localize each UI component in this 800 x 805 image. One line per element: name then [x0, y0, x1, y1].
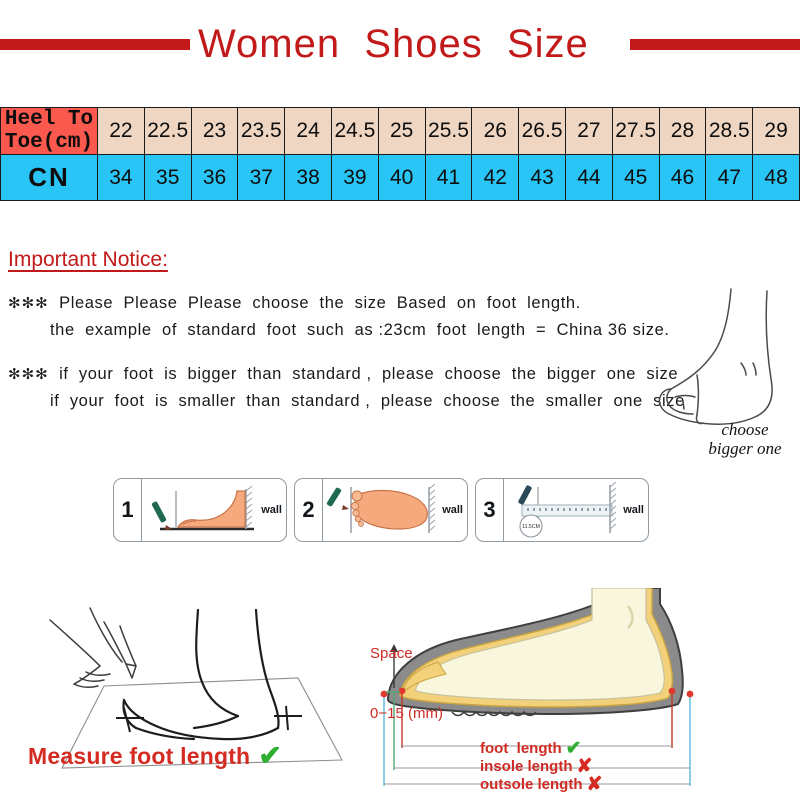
- length-label-text: foot length: [480, 740, 562, 758]
- cross-mark-icon: ✘: [587, 776, 603, 794]
- notice-line: the example of standard foot such as :23…: [8, 317, 688, 343]
- cell-cn: 44: [565, 155, 612, 201]
- page-title: Women Shoes Size: [190, 24, 597, 64]
- step-box-1: 1: [113, 478, 287, 542]
- page-title-bar: Women Shoes Size: [0, 18, 800, 70]
- ruler-reading: 11.5CM: [522, 524, 540, 530]
- cell-cm: 29: [753, 108, 800, 155]
- row-label-cn: CN: [1, 155, 98, 201]
- choose-caption-line2: bigger one: [690, 439, 800, 458]
- choose-caption-line1: choose: [690, 420, 800, 439]
- row-label-heel-to-toe: Heel To Toe(cm): [1, 108, 98, 155]
- space-label-line2: 0−15 (mm): [370, 704, 443, 724]
- cell-cn: 34: [98, 155, 145, 201]
- length-labels: foot length ✔ insole length ✘ outsole le…: [480, 740, 602, 794]
- cell-cn: 36: [191, 155, 238, 201]
- measure-caption-text: Measure foot length: [28, 743, 250, 770]
- cell-cn: 47: [706, 155, 753, 201]
- cell-cm: 26.5: [519, 108, 566, 155]
- space-label-line1: Space: [370, 644, 443, 664]
- cell-cn: 38: [285, 155, 332, 201]
- cell-cm: 23: [191, 108, 238, 155]
- wall-label: wall: [442, 504, 463, 516]
- bullet-stars-icon: ✻✻✻: [8, 366, 49, 383]
- cell-cm: 26: [472, 108, 519, 155]
- length-label-text: outsole length: [480, 776, 583, 794]
- size-chart-page: Women Shoes Size Heel To Toe(cm) 22 22.5…: [0, 0, 800, 800]
- step-number: 2: [295, 479, 323, 541]
- step-3-illustration: 11.5CM wall: [504, 479, 648, 541]
- wall-label: wall: [623, 504, 644, 516]
- cell-cn: 37: [238, 155, 285, 201]
- cell-cm: 25.5: [425, 108, 472, 155]
- cell-cm: 28: [659, 108, 706, 155]
- cell-cm: 23.5: [238, 108, 285, 155]
- notice-paragraph-1: ✻✻✻ Please Please Please choose the size…: [8, 290, 688, 343]
- title-rule-left: [0, 39, 190, 50]
- cell-cn: 48: [753, 155, 800, 201]
- cell-cn: 35: [144, 155, 191, 201]
- size-table-container: Heel To Toe(cm) 22 22.5 23 23.5 24 24.5 …: [0, 107, 800, 201]
- cell-cm: 22.5: [144, 108, 191, 155]
- step-1-illustration: wall: [142, 479, 286, 541]
- title-rule-right: [630, 39, 800, 50]
- cell-cn: 46: [659, 155, 706, 201]
- wall-label: wall: [261, 504, 282, 516]
- cell-cn: 40: [378, 155, 425, 201]
- notice-text-block: ✻✻✻ Please Please Please choose the size…: [8, 290, 688, 432]
- length-label-row: outsole length ✘: [480, 776, 602, 794]
- step-number: 1: [114, 479, 142, 541]
- size-table: Heel To Toe(cm) 22 22.5 23 23.5 24 24.5 …: [0, 107, 800, 201]
- space-gap-label: Space 0−15 (mm): [370, 604, 443, 764]
- cell-cn: 42: [472, 155, 519, 201]
- cell-cn: 41: [425, 155, 472, 201]
- cell-cn: 43: [519, 155, 566, 201]
- notice-line-text: if your foot is bigger than standard , p…: [59, 365, 678, 383]
- length-label-row: insole length ✘: [480, 758, 602, 776]
- cell-cm: 24: [285, 108, 332, 155]
- cell-cm: 27: [565, 108, 612, 155]
- table-row-cn: CN 34 35 36 37 38 39 40 41 42 43 44 45 4…: [1, 155, 800, 201]
- length-label-text: insole length: [480, 758, 573, 776]
- notice-line: ✻✻✻ Please Please Please choose the size…: [8, 290, 688, 317]
- cell-cm: 24.5: [331, 108, 378, 155]
- check-mark-icon: ✔: [258, 742, 282, 770]
- cell-cm: 22: [98, 108, 145, 155]
- cell-cn: 39: [331, 155, 378, 201]
- important-notice-title: Important Notice:: [8, 248, 168, 272]
- cell-cm: 27.5: [612, 108, 659, 155]
- step-number: 3: [476, 479, 504, 541]
- cell-cn: 45: [612, 155, 659, 201]
- bullet-stars-icon: ✻✻✻: [8, 295, 49, 312]
- notice-line-text: Please Please Please choose the size Bas…: [59, 294, 581, 312]
- step-box-2: 2: [294, 478, 468, 542]
- cell-cm: 28.5: [706, 108, 753, 155]
- notice-line: ✻✻✻ if your foot is bigger than standard…: [8, 361, 688, 388]
- step-2-illustration: wall: [323, 479, 467, 541]
- step-box-3: 3: [475, 478, 649, 542]
- cell-cm: 25: [378, 108, 425, 155]
- table-row-cm: Heel To Toe(cm) 22 22.5 23 23.5 24 24.5 …: [1, 108, 800, 155]
- notice-paragraph-2: ✻✻✻ if your foot is bigger than standard…: [8, 361, 688, 414]
- measure-foot-caption: Measure foot length ✔: [28, 742, 282, 770]
- notice-line: if your foot is smaller than standard , …: [8, 388, 688, 414]
- choose-bigger-caption: choose bigger one: [690, 420, 800, 458]
- measuring-steps: 1: [113, 478, 649, 540]
